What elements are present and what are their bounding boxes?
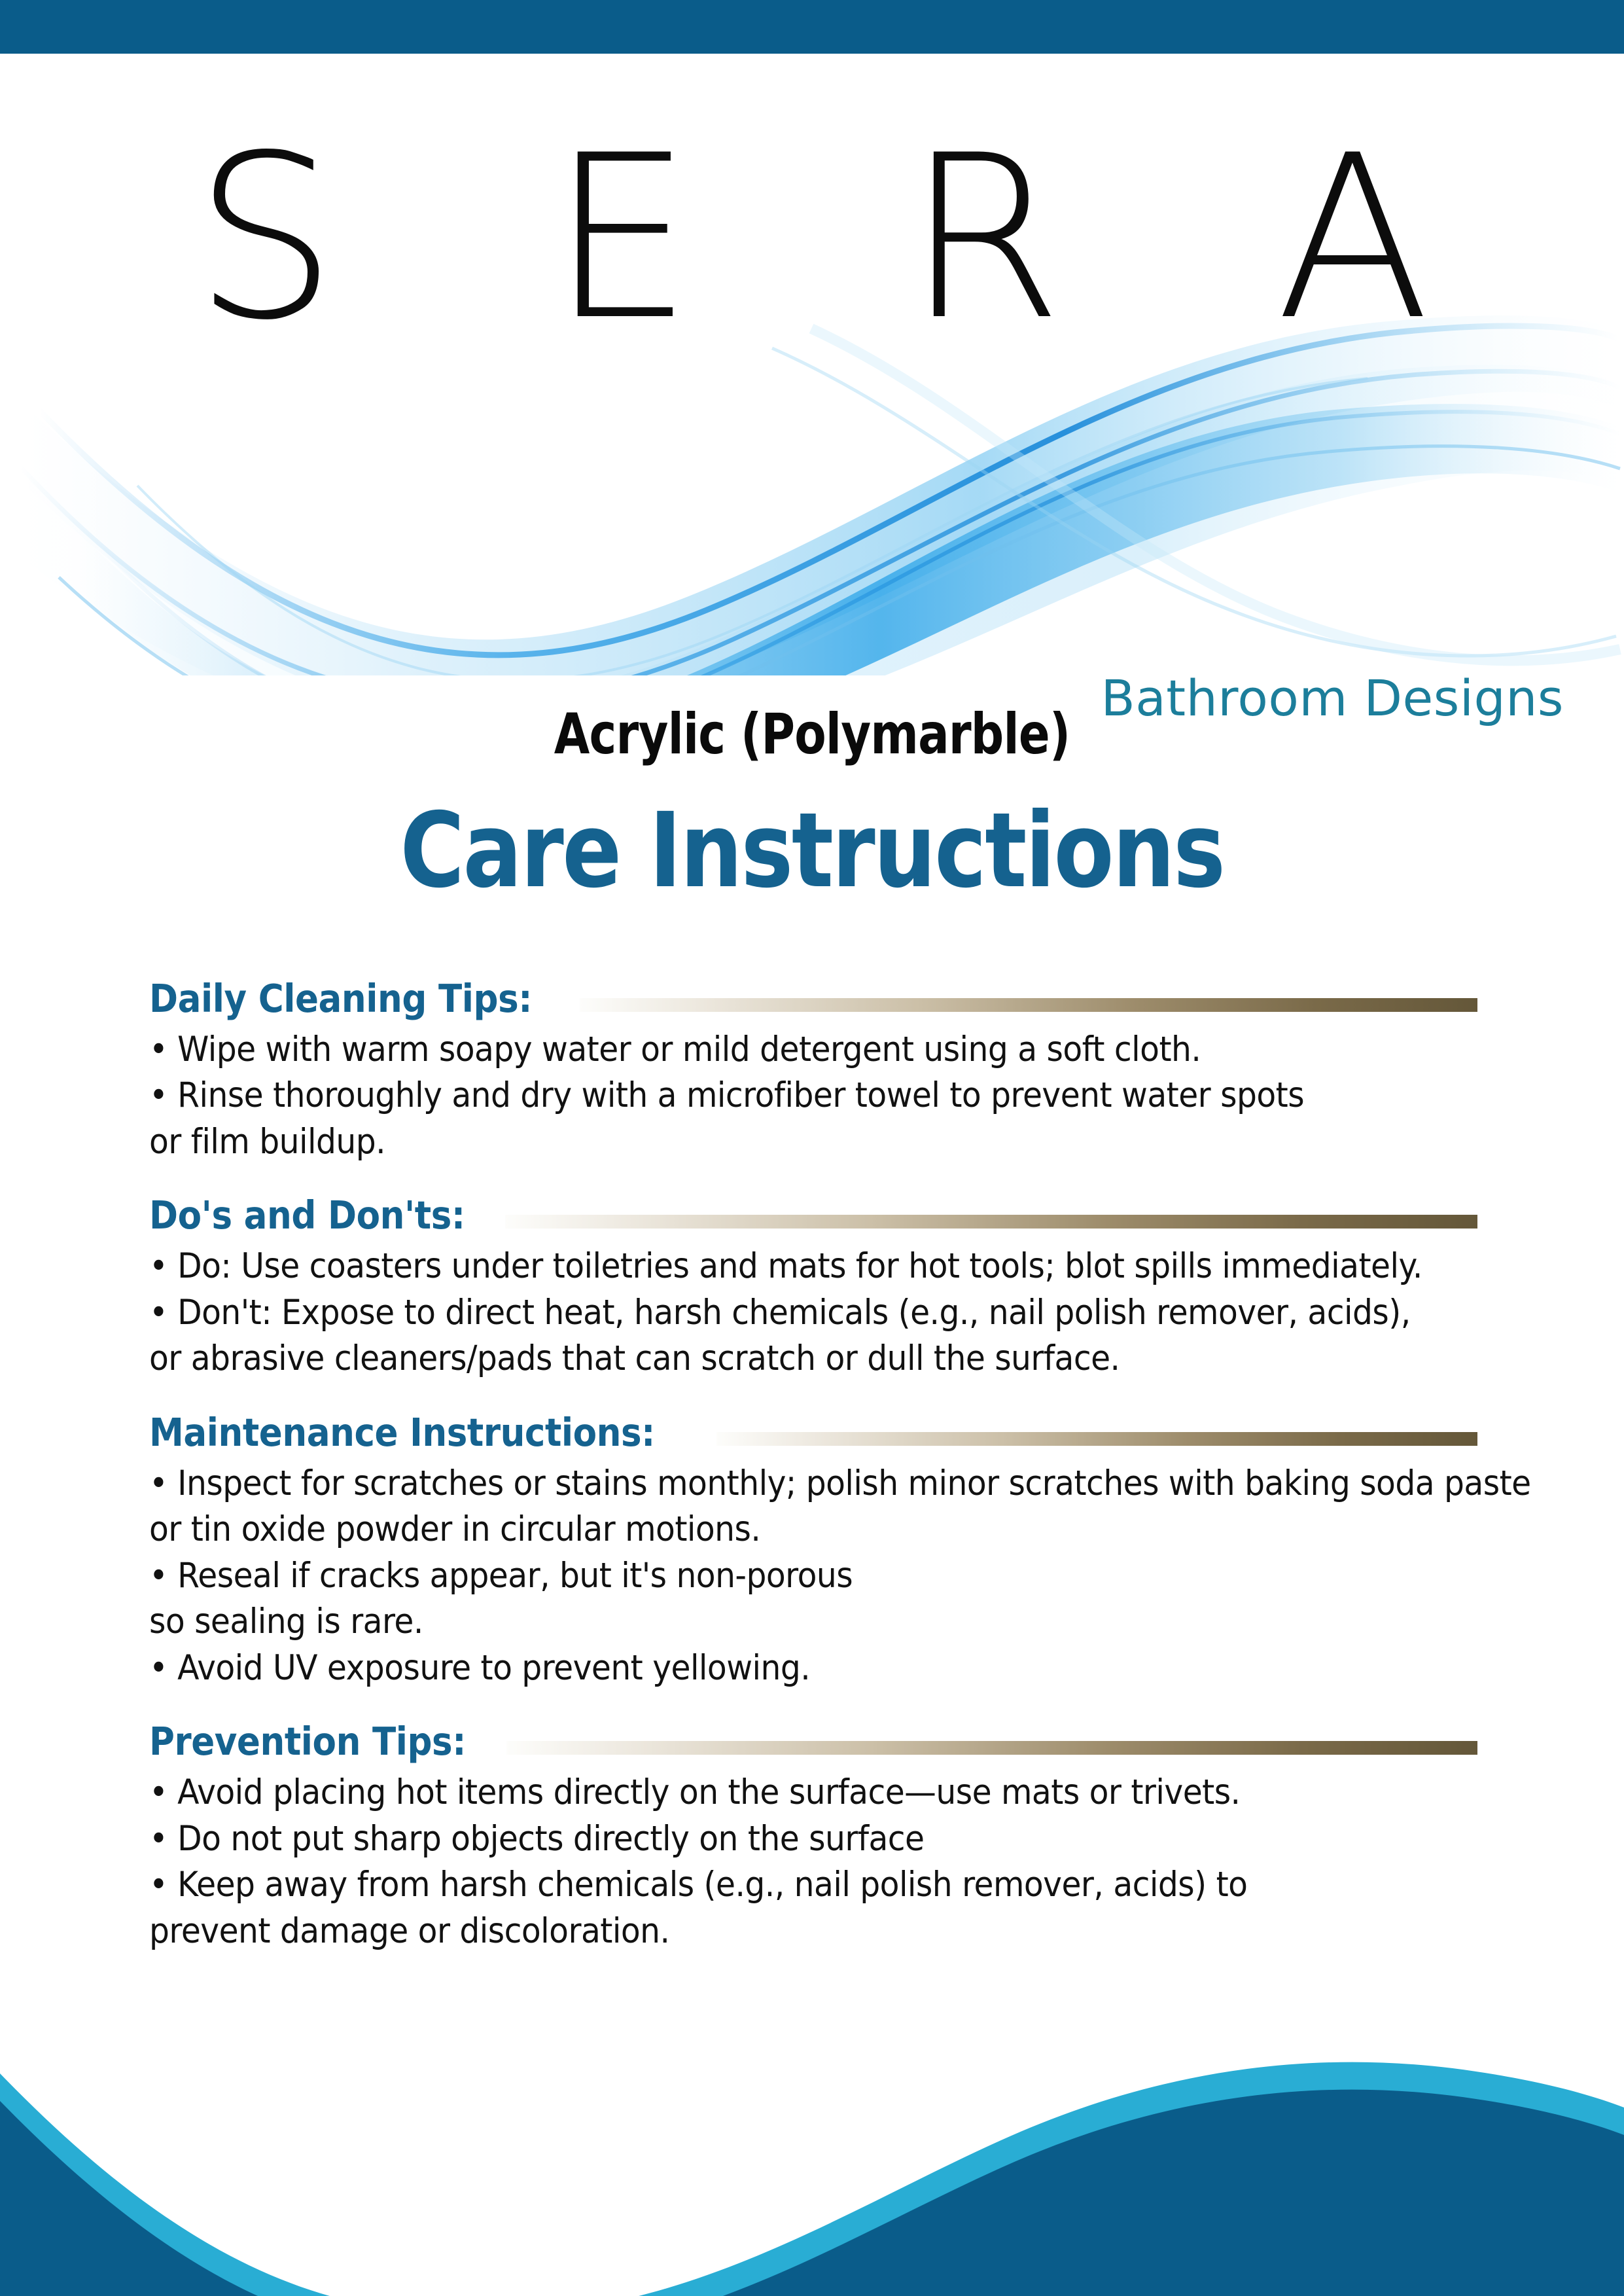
decorative-wave-graphic: [0, 270, 1624, 675]
bullet-list: • Wipe with warm soapy water or mild det…: [149, 1027, 1477, 1165]
section-prevention-tips: Prevention Tips: • Avoid placing hot ite…: [149, 1713, 1477, 1954]
list-item: • Rinse thoroughly and dry with a microf…: [149, 1073, 1371, 1119]
section-title: Do's and Don'ts:: [149, 1196, 465, 1234]
list-item: so sealing is rare.: [149, 1599, 1371, 1645]
section-divider-rule: [505, 1215, 1477, 1229]
section-divider-rule: [716, 1432, 1477, 1446]
section-divider-rule: [580, 998, 1477, 1012]
list-item: • Avoid placing hot items directly on th…: [149, 1770, 1371, 1816]
list-item: prevent damage or discoloration.: [149, 1909, 1371, 1954]
section-header: Prevention Tips:: [149, 1713, 1477, 1761]
footer-wave-svg: [0, 2060, 1624, 2296]
list-item: or abrasive cleaners/pads that can scrat…: [149, 1336, 1371, 1382]
section-maintenance-instructions: Maintenance Instructions: • Inspect for …: [149, 1405, 1477, 1691]
section-header: Maintenance Instructions:: [149, 1405, 1477, 1452]
bullet-list: • Inspect for scratches or stains monthl…: [149, 1461, 1477, 1691]
section-daily-cleaning-tips: Daily Cleaning Tips: • Wipe with warm so…: [149, 971, 1477, 1165]
care-instructions-content: Daily Cleaning Tips: • Wipe with warm so…: [149, 971, 1477, 1977]
list-item: • Avoid UV exposure to prevent yellowing…: [149, 1645, 1371, 1691]
list-item: • Reseal if cracks appear, but it's non-…: [149, 1553, 1371, 1599]
section-divider-rule: [506, 1741, 1477, 1755]
list-item: • Wipe with warm soapy water or mild det…: [149, 1027, 1371, 1073]
list-item: or tin oxide powder in circular motions.: [149, 1507, 1371, 1552]
section-header: Daily Cleaning Tips:: [149, 971, 1477, 1018]
list-item: • Do: Use coasters under toiletries and …: [149, 1244, 1371, 1289]
list-item: • Inspect for scratches or stains monthl…: [149, 1461, 1371, 1507]
section-dos-and-donts: Do's and Don'ts: • Do: Use coasters unde…: [149, 1187, 1477, 1382]
bullet-list: • Do: Use coasters under toiletries and …: [149, 1244, 1477, 1382]
list-item: • Do not put sharp objects directly on t…: [149, 1816, 1371, 1862]
bullet-list: • Avoid placing hot items directly on th…: [149, 1770, 1477, 1954]
list-item: • Keep away from harsh chemicals (e.g., …: [149, 1862, 1371, 1908]
footer-wave: [0, 2060, 1624, 2296]
top-accent-bar: [0, 0, 1624, 54]
page-title: Care Instructions: [122, 791, 1502, 911]
section-header: Do's and Don'ts:: [149, 1187, 1477, 1234]
list-item: • Don't: Expose to direct heat, harsh ch…: [149, 1290, 1371, 1336]
section-title: Maintenance Instructions:: [149, 1413, 655, 1452]
section-title: Prevention Tips:: [149, 1722, 466, 1761]
section-title: Daily Cleaning Tips:: [149, 979, 532, 1018]
list-item: or film buildup.: [149, 1119, 1371, 1165]
document-subtitle: Acrylic (Polymarble): [146, 702, 1477, 767]
brand-header: S E R A: [0, 54, 1624, 715]
